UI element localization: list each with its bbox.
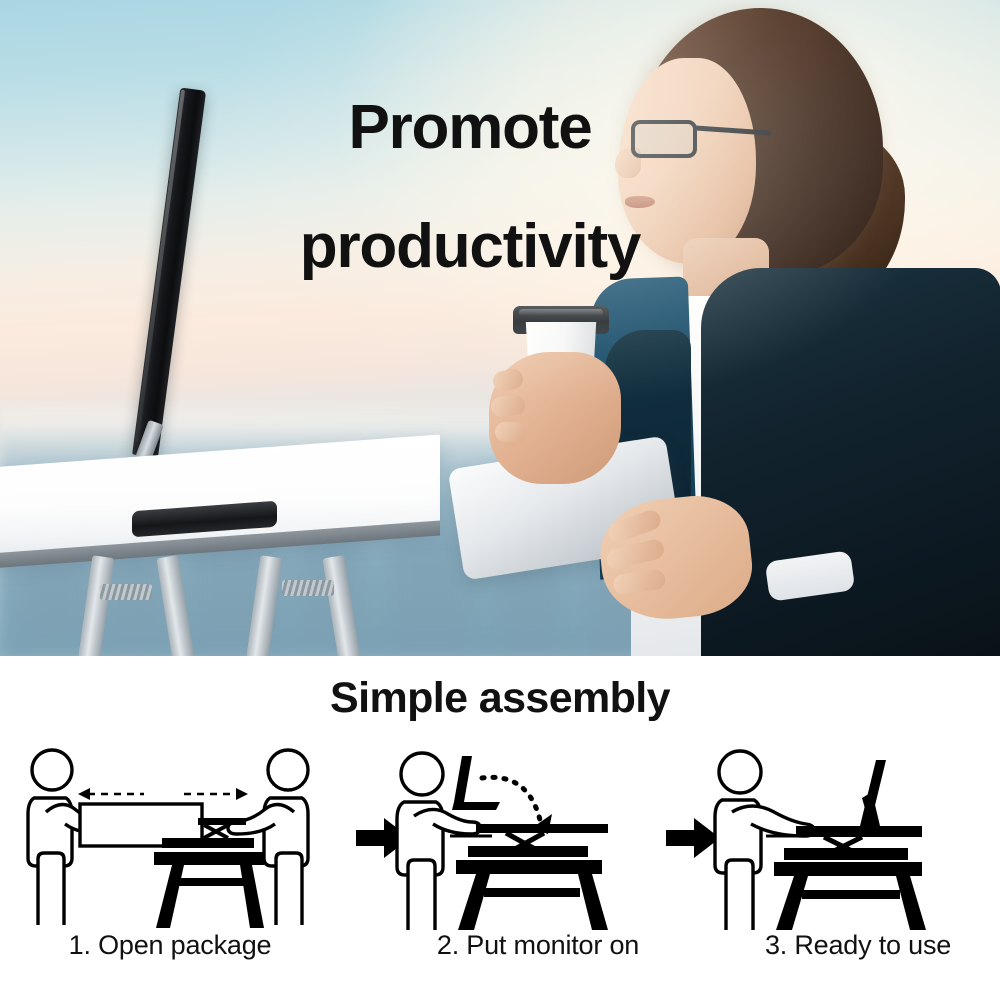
riser-leg-mid-right <box>240 555 283 656</box>
riser-leg-mid-left <box>156 555 201 656</box>
assembly-step-3: 3. Ready to use <box>700 742 1000 1000</box>
riser-spring-left <box>100 584 152 600</box>
headline-line-2: productivity <box>150 217 790 277</box>
assembly-step-2: 2. Put monitor on <box>380 742 696 1000</box>
product-marketing-image: Promote productivity Simple assembly <box>0 0 1000 1000</box>
step-2-label: 2. Put monitor on <box>380 930 696 961</box>
assembly-title: Simple assembly <box>0 674 1000 723</box>
step-3-label: 3. Ready to use <box>700 930 1000 961</box>
riser-spring-right <box>282 580 334 596</box>
step-3-illustration <box>700 742 1000 932</box>
assembly-steps: 1. Open package <box>0 742 1000 1000</box>
hand-holding-cup <box>489 352 621 484</box>
riser-leg-left <box>72 555 115 656</box>
placement-arc-arrow <box>482 777 540 820</box>
riser-leg-right <box>322 555 367 656</box>
hero-photo-panel: Promote productivity <box>0 0 1000 656</box>
hero-headline: Promote productivity <box>150 38 790 336</box>
step-2-illustration <box>380 742 696 932</box>
assembly-panel: Simple assembly <box>0 656 1000 1000</box>
headline-line-1: Promote <box>150 98 790 158</box>
step-1-label: 1. Open package <box>12 930 328 961</box>
assembly-step-1: 1. Open package <box>12 742 328 1000</box>
step-1-illustration <box>12 742 328 932</box>
